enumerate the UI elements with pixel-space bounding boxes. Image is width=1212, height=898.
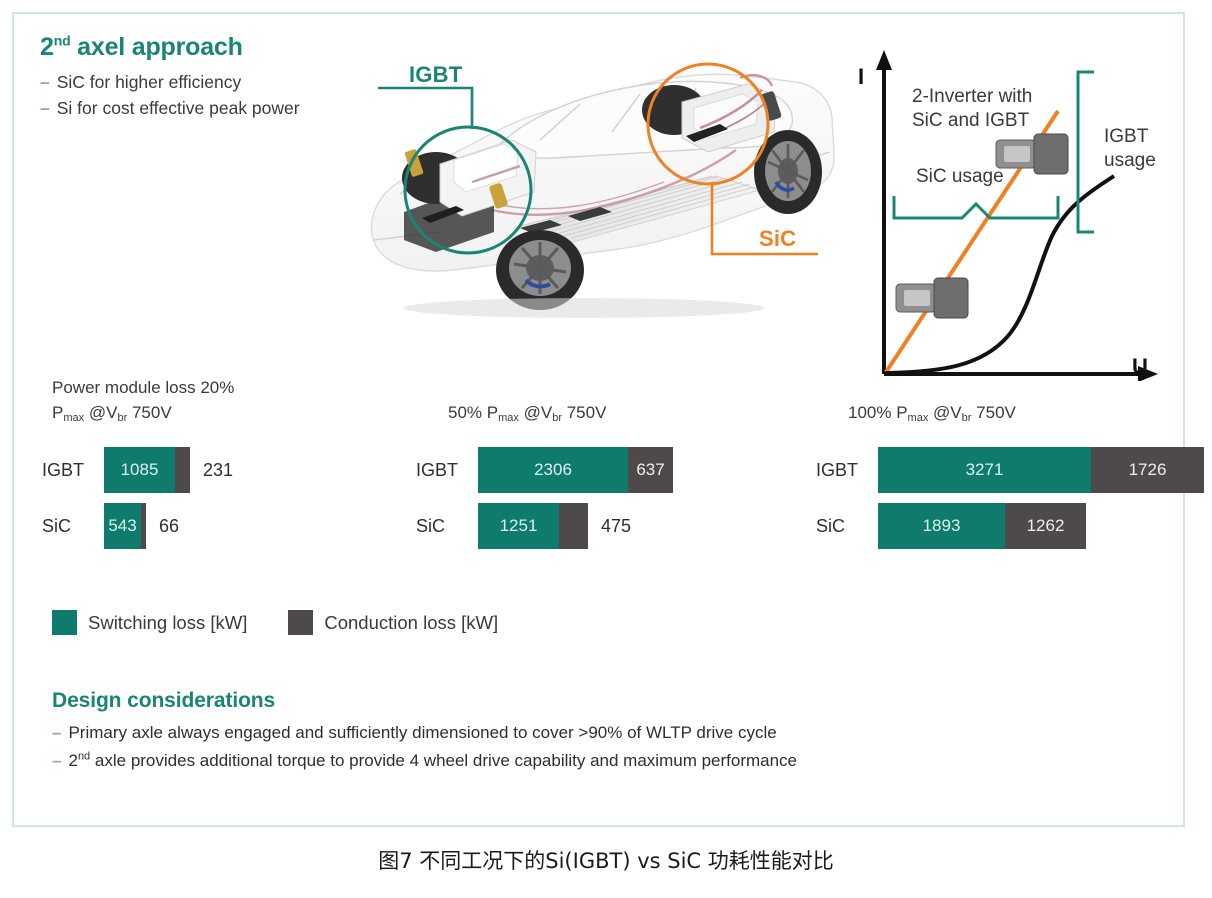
header-bullet-2: – Si for cost effective peak power — [40, 95, 370, 121]
bar-row-sic: SiC 543 66 — [40, 503, 370, 549]
bar-segment-switching: 3271 — [878, 447, 1091, 493]
bar-row-label: IGBT — [814, 460, 878, 481]
legend-swatch-icon — [288, 610, 313, 635]
heading-sub-max: max — [908, 412, 929, 424]
legend-item-conduction: Conduction loss [kW] — [288, 610, 498, 635]
chart-annotation-line2: SiC and IGBT — [912, 110, 1030, 131]
heading-sub-br: br — [552, 412, 562, 424]
header-bullet-1-text: SiC for higher efficiency — [57, 69, 242, 95]
heading-voltage: 750V — [127, 403, 171, 422]
bar-row-label: IGBT — [40, 460, 104, 481]
bar-rows: IGBT 2306 637 SiC 1251 475 — [414, 447, 744, 549]
bullet-dash-icon: – — [40, 95, 50, 121]
slide-frame: 2nd axel approach – SiC for higher effic… — [12, 12, 1185, 827]
legend-label: Conduction loss [kW] — [324, 612, 498, 634]
design-bullet-2-post: axle provides additional torque to provi… — [90, 751, 797, 770]
bar-row-label: SiC — [40, 516, 104, 537]
chart-legend: Switching loss [kW] Conduction loss [kW] — [52, 610, 498, 635]
bar-row-igbt: IGBT 3271 1726 — [814, 447, 1194, 493]
page-title-ordinal: nd — [54, 33, 71, 49]
bar-segment-switching: 2306 — [478, 447, 628, 493]
bar-segment-conduction — [559, 503, 588, 549]
header-block: 2nd axel approach – SiC for higher effic… — [40, 34, 370, 121]
heading-at-v: @V — [928, 403, 961, 422]
bar-row-label: SiC — [414, 516, 478, 537]
legend-item-switching: Switching loss [kW] — [52, 610, 247, 635]
bar-segment-conduction: 1726 — [1091, 447, 1204, 493]
heading-voltage: 750V — [971, 403, 1015, 422]
heading-sub-max: max — [498, 412, 519, 424]
inverter-module-icon — [896, 278, 968, 318]
page-title-rest: axel approach — [70, 33, 242, 61]
legend-label: Switching loss [kW] — [88, 612, 247, 634]
bar-group-100pct: 100% Pmax @Vbr 750V IGBT 3271 1726 SiC 1… — [814, 376, 1194, 559]
heading-line1: Power module loss 20% — [52, 378, 234, 397]
bar-row-igbt: IGBT 2306 637 — [414, 447, 744, 493]
bar-group-subheading: 50% Pmax @Vbr 750V — [448, 401, 744, 426]
header-bullet-1: – SiC for higher efficiency — [40, 69, 370, 95]
design-bullet-2-text: 2nd axle provides additional torque to p… — [68, 747, 797, 775]
callout-sic-label: SiC — [759, 226, 796, 252]
chart-igbt-usage-label-1: IGBT — [1104, 126, 1149, 147]
heading-pmax: 50% P — [448, 403, 498, 422]
heading-pmax: P — [52, 403, 63, 422]
bar-row-sic: SiC 1251 475 — [414, 503, 744, 549]
design-bullet-2: – 2nd axle provides additional torque to… — [52, 747, 1152, 775]
bar-row-label: SiC — [814, 516, 878, 537]
heading-sub-max: max — [63, 412, 84, 424]
figure-caption: 图7 不同工况下的Si(IGBT) vs SiC 功耗性能对比 — [0, 845, 1212, 875]
bullet-dash-icon: – — [40, 69, 50, 95]
legend-swatch-icon — [52, 610, 77, 635]
chart-igbt-usage-label-2: usage — [1104, 150, 1156, 171]
bar-row-sic: SiC 1893 1262 — [814, 503, 1194, 549]
chart-sic-usage-label: SiC usage — [916, 166, 1004, 187]
bar-stack: 2306 637 — [478, 447, 673, 493]
bar-group-50pct: 50% Pmax @Vbr 750V IGBT 2306 637 SiC 125… — [414, 376, 744, 559]
design-bullet-1-text: Primary axle always engaged and sufficie… — [68, 719, 776, 747]
bar-value-conduction-outside: 231 — [190, 460, 233, 481]
bar-group-heading — [848, 376, 1194, 401]
bar-segment-switching: 543 — [104, 503, 141, 549]
design-considerations-block: Design considerations – Primary axle alw… — [52, 689, 1152, 774]
design-bullet-2-pre: 2 — [68, 751, 77, 770]
bar-group-subheading: Pmax @Vbr 750V — [52, 401, 370, 426]
bar-segment-switching: 1251 — [478, 503, 559, 549]
heading-voltage: 750V — [562, 403, 606, 422]
heading-pmax: 100% P — [848, 403, 908, 422]
bar-segment-conduction: 1262 — [1005, 503, 1086, 549]
chart-y-axis-label: I — [858, 64, 864, 89]
bullet-dash-icon: – — [52, 719, 61, 747]
bar-group-heading — [448, 376, 744, 401]
bar-stack: 1251 — [478, 503, 588, 549]
bar-value-conduction-outside: 66 — [146, 516, 179, 537]
chart-annotation-line1: 2-Inverter with — [912, 86, 1032, 107]
callout-igbt-label: IGBT — [409, 62, 462, 88]
bar-segment-switching: 1893 — [878, 503, 1005, 549]
bar-group-heading: Power module loss 20% — [52, 376, 370, 401]
bar-row-label: IGBT — [414, 460, 478, 481]
inverter-module-icon — [996, 134, 1068, 174]
heading-at-v: @V — [84, 403, 117, 422]
bar-stack: 543 — [104, 503, 146, 549]
bar-stack: 1085 — [104, 447, 190, 493]
page-title: 2nd axel approach — [40, 34, 370, 62]
bar-group-subheading: 100% Pmax @Vbr 750V — [848, 401, 1194, 426]
bar-rows: IGBT 3271 1726 SiC 1893 1262 — [814, 447, 1194, 549]
design-bullet-2-ordinal: nd — [78, 750, 90, 762]
bar-value-conduction-outside: 475 — [588, 516, 631, 537]
heading-sub-br: br — [962, 412, 972, 424]
bar-group-20pct: Power module loss 20% Pmax @Vbr 750V IGB… — [40, 376, 370, 559]
bar-segment-conduction: 637 — [628, 447, 673, 493]
bar-segment-switching: 1085 — [104, 447, 175, 493]
heading-sub-br: br — [117, 412, 127, 424]
bar-stack: 1893 1262 — [878, 503, 1086, 549]
bar-row-igbt: IGBT 1085 231 — [40, 447, 370, 493]
heading-at-v: @V — [519, 403, 552, 422]
bullet-dash-icon: – — [52, 747, 61, 775]
design-bullet-1: – Primary axle always engaged and suffic… — [52, 719, 1152, 747]
bar-segment-conduction — [175, 447, 190, 493]
iu-characteristic-chart: 2-Inverter with SiC and IGBT SiC usage I… — [846, 36, 1176, 381]
bar-rows: IGBT 1085 231 SiC 543 66 — [40, 447, 370, 549]
design-considerations-title: Design considerations — [52, 689, 1152, 713]
header-bullet-2-text: Si for cost effective peak power — [57, 95, 300, 121]
bar-stack: 3271 1726 — [878, 447, 1204, 493]
page-title-number: 2 — [40, 33, 54, 61]
